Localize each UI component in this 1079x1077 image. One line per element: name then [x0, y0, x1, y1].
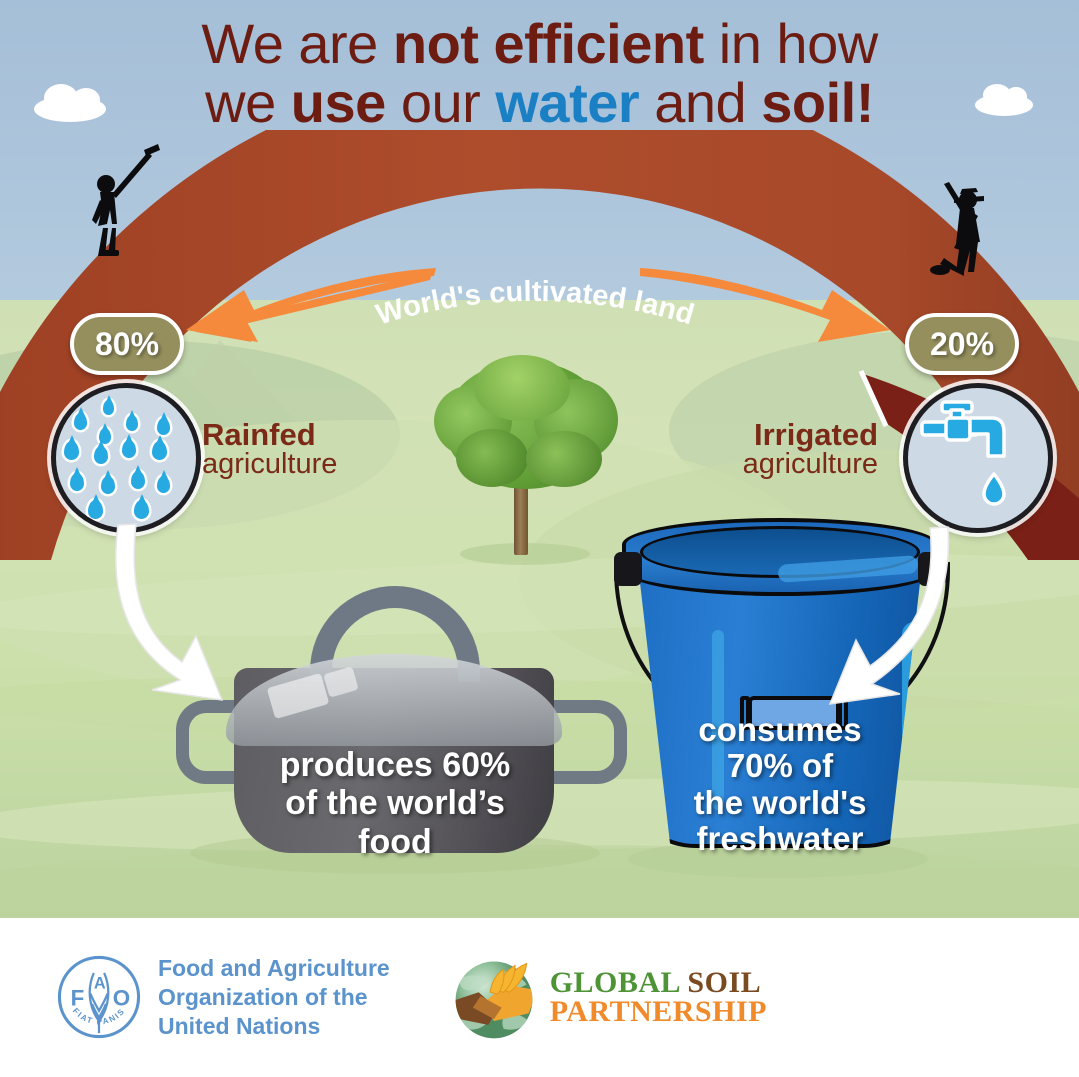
title-segment: in how [704, 12, 878, 75]
fao-emblem-logo: F A O FIAT PANIS [56, 954, 142, 1040]
page-title-line-1: We are not efficient in how [0, 14, 1079, 73]
infographic-canvas: We are not efficient in how we use our w… [0, 0, 1079, 1077]
title-segment: our [386, 71, 496, 134]
percentage-badge-label: 80% [95, 326, 159, 363]
percentage-badge-20: 20% [905, 313, 1019, 375]
percentage-badge-label: 20% [930, 326, 994, 363]
fao-logo: F A O FIAT PANIS Food and Agriculture Or… [56, 954, 390, 1042]
raindrop-icon [70, 473, 84, 491]
bucket-callout-line: freshwater [640, 821, 920, 857]
title-segment: and [639, 71, 761, 134]
gsp-word-partnership: PARTNERSHIP [550, 995, 767, 1028]
bucket-handle-lug-left [614, 552, 642, 586]
title-emphasis-water: water [495, 71, 639, 134]
title-emphasis: use [291, 71, 386, 134]
fao-letter-a: A [94, 975, 106, 993]
water-bucket-illustration: consumes 70% of the world's freshwater [600, 500, 970, 878]
raindrop-icon [131, 471, 145, 489]
label-regular: agriculture [202, 450, 337, 479]
raindrop-icon [134, 500, 149, 519]
page-title-line-2: we use our water and soil! [0, 73, 1079, 132]
raindrop-icon [101, 476, 115, 494]
pot-callout-text: produces 60% of the world’s food [230, 746, 560, 861]
fao-text-line: Food and Agriculture [158, 954, 390, 983]
gsp-line-1: GLOBAL SOIL [550, 969, 767, 998]
pot-callout-line: of the world’s [230, 784, 560, 822]
bucket-callout-line: consumes [640, 712, 920, 748]
label-irrigated-agriculture: Irrigated agriculture [743, 419, 878, 479]
page-title: We are not efficient in how we use our w… [0, 14, 1079, 133]
raindrop-icon [157, 418, 170, 435]
raindrop-icon [157, 476, 170, 493]
global-soil-partnership-logo: GLOBAL SOIL PARTNERSHIP [446, 950, 767, 1046]
pot-callout-line: produces 60% [230, 746, 560, 784]
label-bold: Rainfed [202, 419, 337, 450]
raindrop-icon [64, 441, 79, 460]
fao-letter-o: O [113, 986, 130, 1011]
bucket-callout-line: 70% of [640, 748, 920, 784]
gsp-logo-text: GLOBAL SOIL PARTNERSHIP [550, 969, 767, 1027]
arc-label: World's cultivated land [372, 276, 697, 331]
pot-callout-line: food [230, 823, 560, 861]
percentage-badge-80: 80% [70, 313, 184, 375]
fao-text-line: Organization of the [158, 983, 390, 1012]
raindrop-icon [126, 415, 138, 431]
footer-logos: F A O FIAT PANIS Food and Agriculture Or… [0, 918, 1079, 1077]
bucket-callout-text: consumes 70% of the world's freshwater [640, 712, 920, 857]
raindrop-icon [88, 500, 103, 519]
raindrop-icon [94, 446, 108, 464]
fao-logo-text: Food and Agriculture Organization of the… [158, 954, 390, 1042]
label-rainfed-agriculture: Rainfed agriculture [202, 419, 337, 479]
title-segment: we [205, 71, 291, 134]
bucket-handle-lug-right [918, 552, 946, 586]
gsp-line-2: PARTNERSHIP [550, 998, 767, 1027]
title-emphasis: soil! [761, 71, 874, 134]
raindrop-icon [152, 441, 167, 460]
label-bold: Irrigated [743, 419, 878, 450]
title-segment: We are [201, 12, 393, 75]
globe-handshake-wheat-logo [446, 950, 542, 1046]
rain-drops-icon [51, 383, 201, 533]
title-emphasis: not efficient [393, 12, 704, 75]
faucet-svg [908, 388, 1038, 518]
raindrop-icon [122, 440, 136, 458]
cooking-pot-illustration: produces 60% of the world’s food [160, 570, 630, 875]
raindrop-icon [74, 413, 87, 430]
label-regular: agriculture [743, 450, 878, 479]
raindrop-icon [103, 400, 114, 415]
fao-text-line: United Nations [158, 1012, 390, 1041]
bucket-callout-line: the world's [640, 785, 920, 821]
